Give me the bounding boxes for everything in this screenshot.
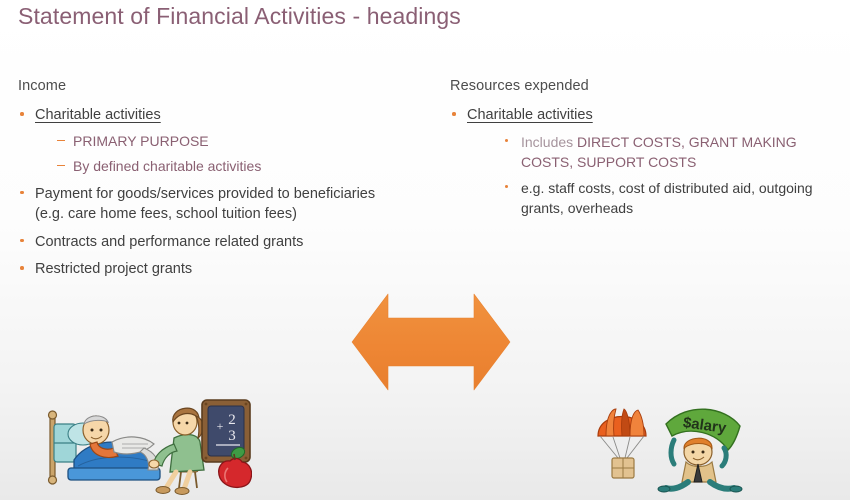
resources-expended-bullet-list: Charitable activities Includes DIRECT CO… <box>450 105 840 219</box>
income-sublist: PRIMARY PURPOSE By defined charitable ac… <box>57 131 398 177</box>
bullet-dot-icon <box>20 112 24 116</box>
income-bullet-list: Charitable activities PRIMARY PURPOSE By… <box>18 105 398 280</box>
resources-expended-heading: Resources expended <box>450 78 840 94</box>
income-item-label: Charitable activities <box>35 107 161 123</box>
svg-text:3: 3 <box>228 428 236 444</box>
aid-and-salary-illustration: $alary <box>592 396 752 500</box>
care-and-education-illustration: 2 + 3 <box>34 394 252 500</box>
parachute-aid-drop <box>598 409 646 478</box>
bullet-dot-icon <box>20 191 24 195</box>
income-subitem-label: PRIMARY PURPOSE <box>73 133 209 149</box>
income-item-label: Contracts and performance related grants <box>35 234 303 250</box>
salary-banner-figure: $alary <box>658 409 742 492</box>
list-item: Payment for goods/services provided to b… <box>18 184 398 225</box>
bullet-dot-icon <box>20 239 24 243</box>
expended-item-label: Charitable activities <box>467 107 593 123</box>
dash-marker-icon <box>57 140 65 142</box>
bullet-dot-icon <box>505 139 508 142</box>
expended-subitem-lead: Includes <box>521 134 577 150</box>
list-item: By defined charitable activities <box>57 156 398 177</box>
income-column: Income Charitable activities PRIMARY PUR… <box>18 78 398 287</box>
expended-sublist: Includes DIRECT COSTS, GRANT MAKING COST… <box>503 132 840 219</box>
resources-expended-column: Resources expended Charitable activities… <box>450 78 840 226</box>
expended-subitem-label: e.g. staff costs, cost of distributed ai… <box>521 180 813 216</box>
svg-text:+: + <box>217 419 224 433</box>
income-heading: Income <box>18 78 398 94</box>
dash-marker-icon <box>57 165 65 167</box>
list-item: Restricted project grants <box>18 259 398 280</box>
list-item: Includes DIRECT COSTS, GRANT MAKING COST… <box>503 132 840 173</box>
bullet-dot-icon <box>505 185 508 188</box>
list-item: e.g. staff costs, cost of distributed ai… <box>503 178 840 219</box>
list-item: Contracts and performance related grants <box>18 232 398 253</box>
slide-canvas: Statement of Financial Activities - head… <box>0 0 850 500</box>
double-headed-exchange-arrow-icon <box>350 288 512 396</box>
list-item: Charitable activities Includes DIRECT CO… <box>450 105 840 219</box>
bed-care-scene <box>49 411 161 484</box>
income-item-label: Payment for goods/services provided to b… <box>35 186 375 223</box>
income-item-label: Restricted project grants <box>35 261 192 277</box>
bullet-dot-icon <box>20 266 24 270</box>
page-title: Statement of Financial Activities - head… <box>18 3 461 30</box>
caregiver-figure <box>149 408 204 494</box>
blackboard-sum-text: 2 <box>228 412 236 428</box>
bullet-dot-icon <box>452 112 456 116</box>
blackboard-with-apple: 2 + 3 <box>202 400 252 487</box>
list-item: Charitable activities PRIMARY PURPOSE By… <box>18 105 398 177</box>
list-item: PRIMARY PURPOSE <box>57 131 398 152</box>
income-subitem-label: By defined charitable activities <box>73 158 261 174</box>
